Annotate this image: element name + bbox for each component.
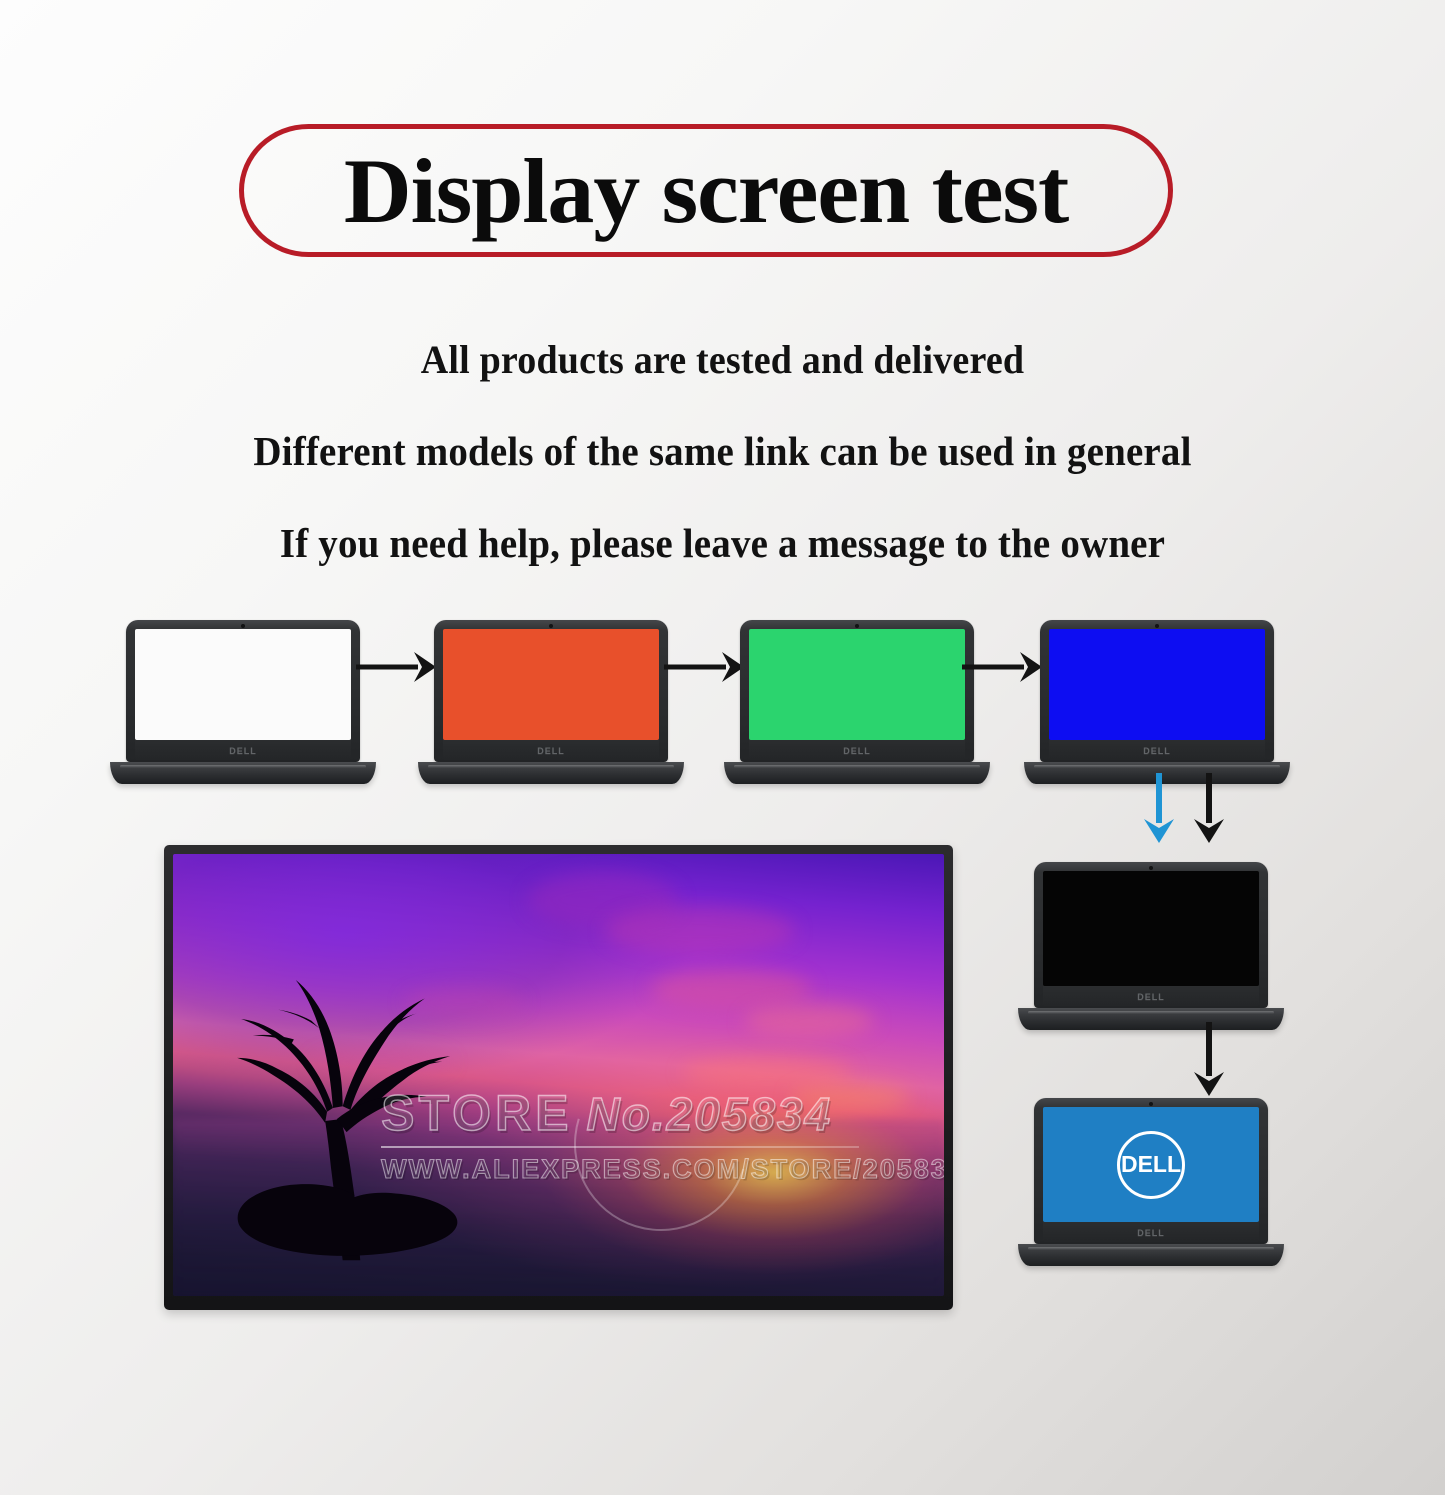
arrow-blue-to-tv (1138, 773, 1182, 852)
flat-screen-tv: STORE No.205834 WWW.ALIEXPRESS.COM/STORE… (164, 845, 953, 1310)
laptop-base (724, 762, 991, 784)
page-title-badge: Display screen test (239, 124, 1173, 257)
white-screen-laptop: DELL (126, 620, 360, 784)
laptop-base (1018, 1008, 1285, 1030)
tv-screen: STORE No.205834 WWW.ALIEXPRESS.COM/STORE… (173, 854, 944, 1296)
arrow-orange-to-green (664, 648, 748, 691)
description-line-3: If you need help, please leave a message… (36, 519, 1409, 567)
laptop-chin: DELL (1043, 986, 1259, 1008)
description-block: All products are tested and delivered Di… (0, 318, 1445, 567)
laptop-base (110, 762, 377, 784)
dell-wordmark: DELL (843, 746, 871, 756)
dell-wordmark: DELL (537, 746, 565, 756)
page-title: Display screen test (344, 145, 1068, 237)
webcam-icon (549, 624, 553, 628)
laptop-lid: DELL (740, 620, 974, 762)
laptop-screen-blue (1049, 629, 1265, 740)
webcam-icon (1149, 1102, 1153, 1106)
laptop-screen-black (1043, 871, 1259, 986)
tree-silhouette-icon (204, 889, 497, 1260)
watermark-store-word: STORE (381, 1084, 572, 1142)
arrow-green-to-blue (962, 648, 1046, 691)
dell-wordmark: DELL (229, 746, 257, 756)
laptop-screen-dell-boot: DELL (1043, 1107, 1259, 1222)
dell-logo-icon: DELL (1117, 1131, 1185, 1199)
laptop-chin: DELL (749, 740, 965, 762)
poster-canvas: Display screen test All products are tes… (0, 0, 1445, 1495)
laptop-lid: DELL (1040, 620, 1274, 762)
black-screen-laptop: DELL (1034, 862, 1268, 1030)
webcam-icon (1149, 866, 1153, 870)
laptop-chin: DELL (443, 740, 659, 762)
laptop-lid: DELL DELL (1034, 1098, 1268, 1244)
arrow-black-to-boot-laptop (1188, 1022, 1232, 1105)
arrow-blue-to-black-laptop (1188, 773, 1232, 852)
laptop-lid: DELL (434, 620, 668, 762)
description-line-2: Different models of the same link can be… (36, 427, 1409, 475)
webcam-icon (241, 624, 245, 628)
laptop-base (1018, 1244, 1285, 1266)
arrow-white-to-orange (356, 648, 440, 691)
laptop-lid: DELL (1034, 862, 1268, 1008)
dell-logo-text: DELL (1121, 1151, 1181, 1178)
blue-screen-laptop: DELL (1040, 620, 1274, 784)
dell-wordmark: DELL (1137, 1228, 1165, 1238)
dell-wordmark: DELL (1137, 992, 1165, 1002)
laptop-base (418, 762, 685, 784)
laptop-lid: DELL (126, 620, 360, 762)
laptop-chin: DELL (135, 740, 351, 762)
webcam-icon (855, 624, 859, 628)
webcam-icon (1155, 624, 1159, 628)
laptop-chin: DELL (1049, 740, 1265, 762)
dell-boot-laptop: DELL DELL (1034, 1098, 1268, 1266)
laptop-screen-green (749, 629, 965, 740)
green-screen-laptop: DELL (740, 620, 974, 784)
laptop-screen-white (135, 629, 351, 740)
dell-wordmark: DELL (1143, 746, 1171, 756)
orange-screen-laptop: DELL (434, 620, 668, 784)
description-line-1: All products are tested and delivered (36, 336, 1409, 383)
laptop-screen-orange (443, 629, 659, 740)
laptop-chin: DELL (1043, 1222, 1259, 1244)
